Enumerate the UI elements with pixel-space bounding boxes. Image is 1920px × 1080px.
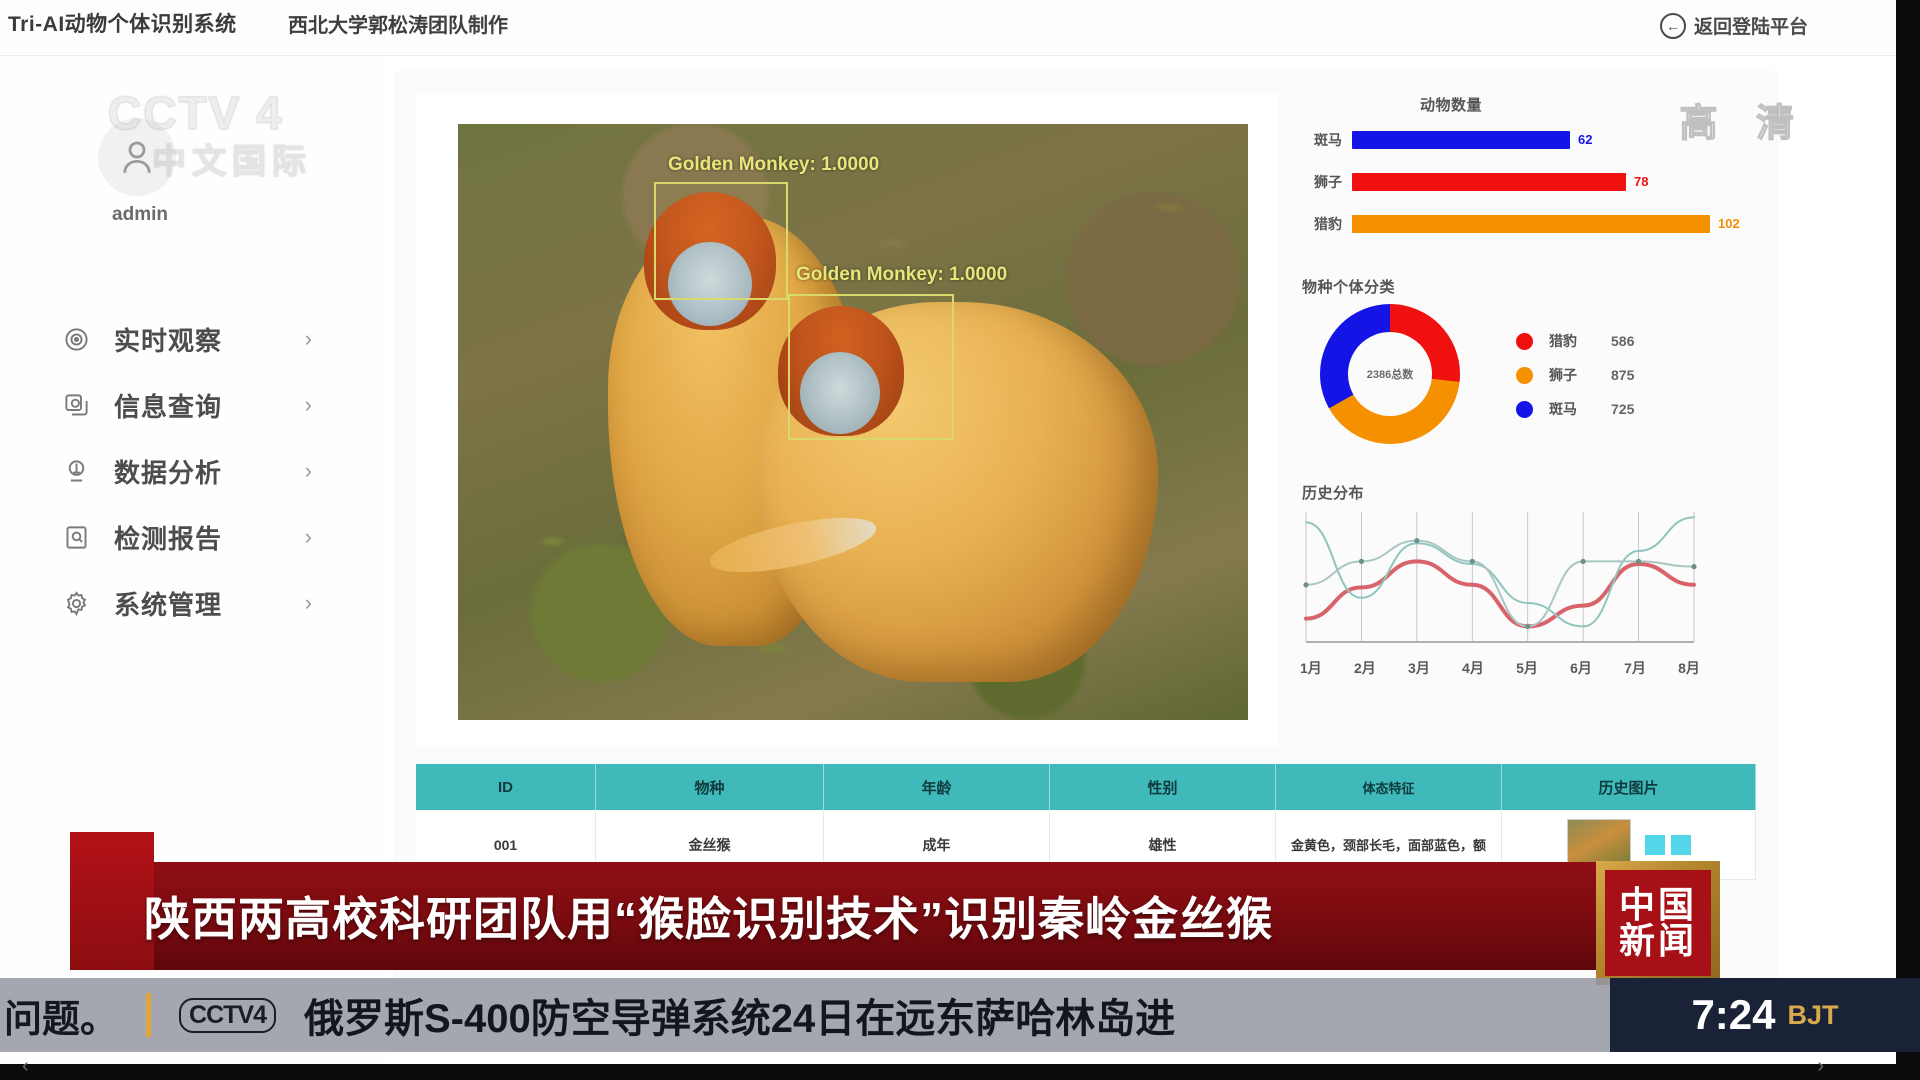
bar-row: 狮子 78 [1294, 172, 1756, 192]
bar-category-label: 猎豹 [1294, 214, 1342, 234]
user-name: admin [90, 204, 190, 226]
app-header: Tri-AI动物个体识别系统 西北大学郭松涛团队制作 ← 返回登陆平台 [0, 0, 1896, 56]
detection-label: Golden Monkey: 1.0000 [796, 264, 1007, 286]
main-content-card: Golden Monkey: 1.0000 Golden Monkey: 1.0… [396, 72, 1776, 992]
sidebar-item-label: 系统管理 [114, 585, 222, 622]
bar-fill [1352, 215, 1710, 233]
news-ticker: 问题。 CCTV4 俄罗斯S-400防空导弹系统24日在远东萨哈林岛进 [0, 978, 1610, 1052]
sidebar-item-label: 信息查询 [114, 387, 222, 424]
sidebar-item-data-analysis[interactable]: 数据分析 › [56, 438, 336, 504]
ticker-separator [146, 993, 151, 1037]
legend-label: 斑马 [1549, 399, 1601, 419]
avatar[interactable] [98, 118, 176, 196]
bar-value-label: 62 [1578, 132, 1592, 147]
x-tick-label: 2月 [1354, 658, 1376, 678]
broadcast-screen: Tri-AI动物个体识别系统 西北大学郭松涛团队制作 ← 返回登陆平台 admi… [0, 0, 1920, 1080]
footer-chevron-left-icon: ‹ [22, 1055, 29, 1078]
bar-row: 猎豹 102 [1294, 214, 1756, 234]
chevron-right-icon: › [305, 326, 336, 352]
history-distribution-line-chart: 历史分布 1月 2月 3月 4月 5月 6月 7月 8月 [1294, 482, 1756, 712]
detection-box [788, 294, 954, 440]
bar-track: 78 [1352, 173, 1756, 191]
bar-category-label: 狮子 [1294, 172, 1342, 192]
program-logo-line1: 中国 [1619, 887, 1697, 923]
bar-track: 102 [1352, 215, 1756, 233]
bar-category-label: 斑马 [1294, 130, 1342, 150]
legend-value: 725 [1611, 401, 1634, 417]
sidebar-item-system-management[interactable]: 系统管理 › [56, 570, 336, 636]
legend-color-dot [1516, 367, 1533, 384]
ticker-channel-logo: CCTV4 [179, 998, 276, 1033]
report-icon [56, 517, 96, 557]
bar-track: 62 [1352, 131, 1756, 149]
donut-center-label: 2386总数 [1367, 366, 1413, 382]
gear-icon [56, 583, 96, 623]
back-to-login-label: 返回登陆平台 [1694, 12, 1808, 39]
copy-search-icon [56, 385, 96, 425]
x-tick-label: 6月 [1570, 658, 1592, 678]
x-tick-label: 1月 [1300, 658, 1322, 678]
news-headline: 陕西两高校科研团队用“猴脸识别技术”识别秦岭金丝猴 [144, 883, 1273, 949]
sidebar-menu: 实时观察 › 信息查询 › [56, 306, 336, 636]
detection-panel: Golden Monkey: 1.0000 Golden Monkey: 1.0… [416, 94, 1278, 746]
ticker-previous-text: 问题。 [4, 988, 118, 1043]
target-icon [56, 319, 96, 359]
clock-time: 7:24 [1691, 991, 1775, 1039]
donut-ring: 2386总数 [1320, 304, 1460, 444]
detection-box [654, 182, 788, 300]
legend-color-dot [1516, 333, 1533, 350]
legend-label: 猎豹 [1549, 331, 1601, 351]
badge-square-icon [1671, 835, 1691, 855]
chevron-right-icon: › [305, 458, 336, 484]
legend-item: 狮子 875 [1516, 358, 1634, 392]
app-title: Tri-AI动物个体识别系统 [8, 8, 237, 38]
sidebar-item-detection-report[interactable]: 检测报告 › [56, 504, 336, 570]
ticker-headline-text: 俄罗斯S-400防空导弹系统24日在远东萨哈林岛进 [304, 986, 1175, 1044]
line-chart-svg [1300, 506, 1700, 656]
sidebar-item-label: 数据分析 [114, 453, 222, 490]
news-lower-third: 陕西两高校科研团队用“猴脸识别技术”识别秦岭金丝猴 [88, 862, 1628, 970]
legend-label: 狮子 [1549, 365, 1601, 385]
arrow-left-circle-icon: ← [1660, 13, 1686, 39]
x-tick-label: 3月 [1408, 658, 1430, 678]
legend-value: 586 [1611, 333, 1634, 349]
x-tick-label: 8月 [1678, 658, 1700, 678]
line-chart-x-axis: 1月 2月 3月 4月 5月 6月 7月 8月 [1300, 658, 1700, 678]
chevron-right-icon: › [305, 590, 336, 616]
x-tick-label: 4月 [1462, 658, 1484, 678]
program-logo-inner: 中国 新闻 [1605, 870, 1711, 976]
analytics-icon [56, 451, 96, 491]
bottom-gutter [0, 1064, 1920, 1080]
table-header-cell: 物种 [596, 764, 824, 810]
donut-legend: 猎豹 586 狮子 875 斑马 725 [1516, 324, 1634, 426]
chevron-right-icon: › [305, 392, 336, 418]
back-to-login-button[interactable]: ← 返回登陆平台 [1660, 12, 1808, 39]
legend-item: 斑马 725 [1516, 392, 1634, 426]
legend-color-dot [1516, 401, 1533, 418]
user-avatar-icon [98, 118, 176, 196]
table-header-cell: 年龄 [824, 764, 1050, 810]
photo-badges [1645, 835, 1691, 855]
clock-timezone: BJT [1788, 1000, 1839, 1031]
bar-fill [1352, 131, 1570, 149]
right-gutter [1896, 0, 1920, 1080]
bar-value-label: 102 [1718, 216, 1740, 231]
sidebar-item-label: 检测报告 [114, 519, 222, 556]
program-logo-line2: 新闻 [1619, 923, 1697, 959]
footer-chevron-right-icon: › [1817, 1055, 1824, 1078]
detection-image: Golden Monkey: 1.0000 Golden Monkey: 1.0… [458, 124, 1248, 720]
detection-label: Golden Monkey: 1.0000 [668, 154, 879, 176]
broadcast-clock: 7:24 BJT [1610, 978, 1920, 1052]
legend-value: 875 [1611, 367, 1634, 383]
program-logo: 中国 新闻 [1596, 861, 1720, 985]
donut-chart-title: 物种个体分类 [1302, 276, 1395, 297]
app-subtitle: 西北大学郭松涛团队制作 [288, 9, 508, 38]
sidebar-item-information-query[interactable]: 信息查询 › [56, 372, 336, 438]
badge-square-icon [1645, 835, 1665, 855]
table-header-cell: 体态特征 [1276, 764, 1502, 810]
lower-third-accent-bar [70, 832, 154, 970]
x-tick-label: 7月 [1624, 658, 1646, 678]
sidebar-item-label: 实时观察 [114, 321, 222, 358]
table-header-cell: 性别 [1050, 764, 1276, 810]
bar-fill [1352, 173, 1626, 191]
legend-item: 猎豹 586 [1516, 324, 1634, 358]
table-header-cell: ID [416, 764, 596, 810]
bar-value-label: 78 [1634, 174, 1648, 189]
sidebar-item-realtime-observation[interactable]: 实时观察 › [56, 306, 336, 372]
x-tick-label: 5月 [1516, 658, 1538, 678]
chevron-right-icon: › [305, 524, 336, 550]
donut-hole: 2386总数 [1348, 332, 1432, 416]
table-header-row: ID 物种 年龄 性别 体态特征 历史图片 [416, 764, 1756, 810]
table-header-cell: 历史图片 [1502, 764, 1756, 810]
charts-panel: 动物数量 斑马 62 狮子 78 [1294, 94, 1756, 746]
bar-row: 斑马 62 [1294, 130, 1756, 150]
bar-chart-title: 动物数量 [1420, 94, 1482, 115]
line-chart-title: 历史分布 [1302, 482, 1364, 503]
